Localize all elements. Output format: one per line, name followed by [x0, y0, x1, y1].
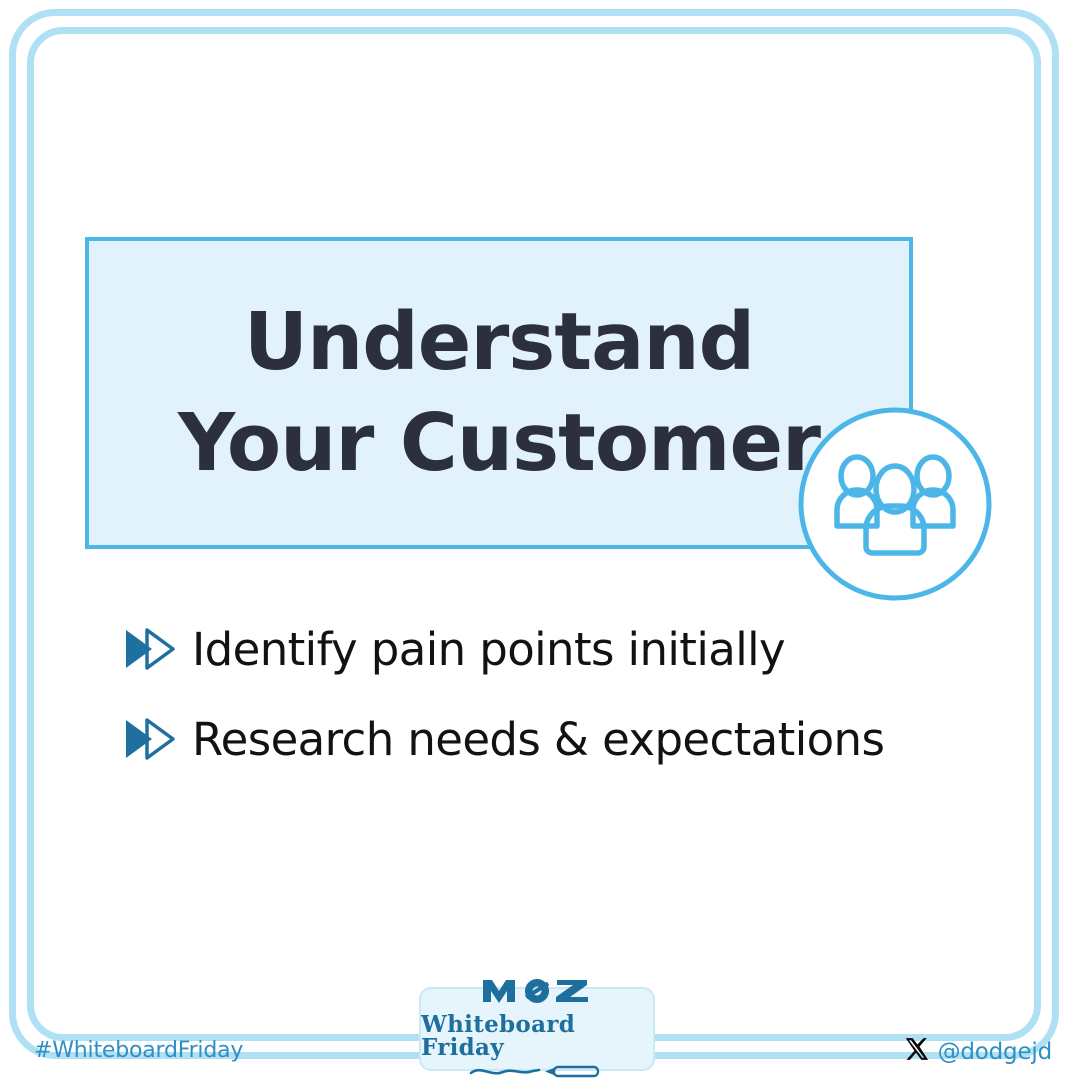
double-chevron-bullet-icon: [122, 715, 178, 763]
moz-logo: [481, 977, 593, 1010]
moz-badge-subtitle: Whiteboard Friday: [421, 1013, 653, 1059]
social-handle[interactable]: @dodgejd: [903, 1036, 1052, 1067]
slide-canvas: Understand Your Customer: [0, 0, 1080, 1080]
bullet-text: Identify pain points initially: [192, 623, 785, 676]
social-handle-label: @dodgejd: [938, 1039, 1052, 1065]
bullet-list: Identify pain points initially Research …: [122, 604, 982, 784]
bullet-text: Research needs & expectations: [192, 713, 884, 766]
group-of-people-icon: [797, 406, 993, 602]
list-item: Research needs & expectations: [122, 694, 982, 784]
marker-squiggle-icon: [467, 1063, 607, 1080]
moz-whiteboard-friday-badge: Whiteboard Friday: [419, 987, 655, 1071]
page-title-line-1: Understand: [244, 292, 754, 393]
x-twitter-icon: [903, 1036, 929, 1067]
page-title-line-2: Your Customer: [178, 393, 820, 494]
list-item: Identify pain points initially: [122, 604, 982, 694]
hashtag-label: #WhiteboardFriday: [34, 1038, 243, 1063]
title-box: Understand Your Customer: [85, 237, 913, 549]
double-chevron-bullet-icon: [122, 625, 178, 673]
